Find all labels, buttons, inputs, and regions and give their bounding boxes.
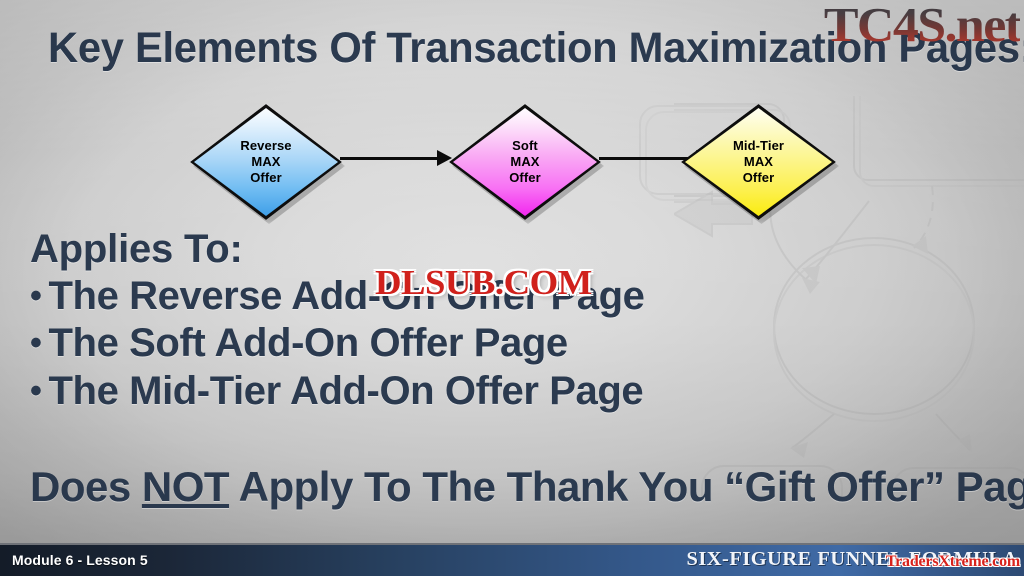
- node-label: Soft MAX Offer: [449, 104, 601, 220]
- flow-node-mid-tier-max-offer[interactable]: Mid-Tier MAX Offer: [681, 104, 836, 220]
- connector-line: [340, 157, 438, 160]
- watermark-dlsub: DLSUB.COM: [375, 263, 592, 303]
- node-label-line3: Offer: [250, 170, 282, 186]
- closing-suffix: Apply To The Thank You “Gift Offer” Page: [229, 463, 1024, 510]
- bullet-icon: •: [30, 323, 42, 363]
- closing-statement: Does NOT Apply To The Thank You “Gift Of…: [30, 463, 1024, 511]
- node-label-line2: MAX: [744, 154, 773, 170]
- node-label-line1: Mid-Tier: [733, 138, 784, 154]
- bullet-icon: •: [30, 276, 42, 316]
- node-label: Mid-Tier MAX Offer: [681, 104, 836, 220]
- flow-node-soft-max-offer[interactable]: Soft MAX Offer: [449, 104, 601, 220]
- flow-node-reverse-max-offer[interactable]: Reverse MAX Offer: [190, 104, 342, 220]
- bullet-icon: •: [30, 371, 42, 411]
- list-item: •The Mid-Tier Add-On Offer Page: [30, 368, 750, 415]
- node-label-line3: Offer: [743, 170, 775, 186]
- node-label-line1: Soft: [512, 138, 538, 154]
- node-label-line2: MAX: [510, 154, 539, 170]
- node-label-line1: Reverse: [240, 138, 291, 154]
- node-label-line2: MAX: [251, 154, 280, 170]
- watermark-tradersxtreme: TradersXtreme.com: [886, 553, 1020, 571]
- closing-prefix: Does: [30, 463, 142, 510]
- slide-canvas: Key Elements Of Transaction Maximization…: [0, 0, 1024, 576]
- node-label: Reverse MAX Offer: [190, 104, 342, 220]
- closing-emphasis: NOT: [142, 463, 229, 510]
- list-item-label: The Mid-Tier Add-On Offer Page: [49, 369, 644, 413]
- watermark-tc4s: TC4S.net: [823, 0, 1020, 53]
- footer-bar: Module 6 - Lesson 5 SIX-FIGURE FUNNEL FO…: [0, 543, 1024, 576]
- list-item: •The Soft Add-On Offer Page: [30, 320, 750, 367]
- list-item-label: The Soft Add-On Offer Page: [49, 321, 568, 365]
- footer-module-label: Module 6 - Lesson 5: [12, 552, 148, 568]
- connector-arrow-1: [340, 147, 452, 169]
- flow-diagram: Reverse MAX Offer Soft MAX Offer: [0, 100, 1024, 225]
- applies-to-block: Applies To: •The Reverse Add-On Offer Pa…: [30, 228, 750, 415]
- node-label-line3: Offer: [509, 170, 541, 186]
